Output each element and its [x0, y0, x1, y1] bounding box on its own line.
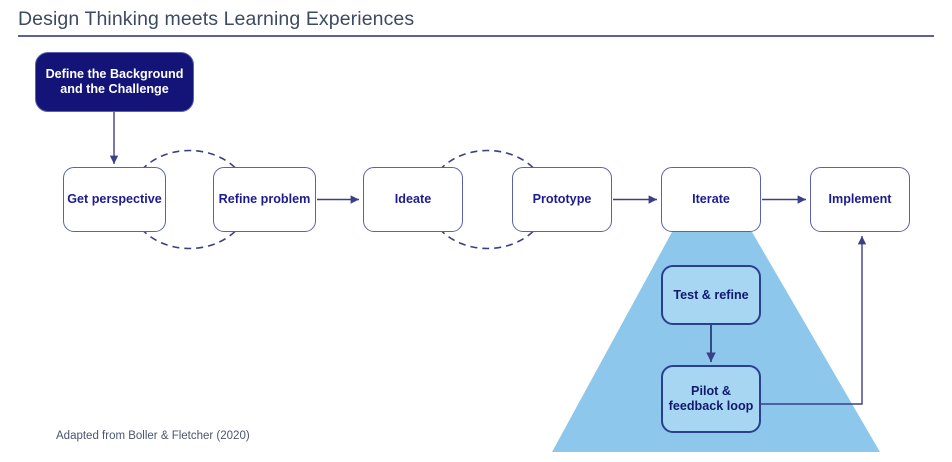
node-label: Implement — [811, 192, 909, 207]
node-test-and-refine[interactable]: Test & refine — [661, 265, 761, 325]
source-attribution: Adapted from Boller & Fletcher (2020) — [56, 430, 250, 442]
node-define-background-challenge[interactable]: Define the Background and the Challenge — [35, 52, 194, 112]
slide-canvas: Design Thinking meets Learning Experienc… — [0, 0, 952, 462]
node-pilot-feedback-loop[interactable]: Pilot & feedback loop — [661, 365, 761, 433]
node-label: Pilot & feedback loop — [663, 384, 759, 414]
node-get-perspective[interactable]: Get perspective — [63, 167, 166, 232]
node-label: Define the Background and the Challenge — [36, 67, 193, 97]
node-label: Prototype — [513, 192, 611, 207]
node-prototype[interactable]: Prototype — [512, 167, 612, 232]
node-label: Refine problem — [214, 192, 315, 207]
node-label: Ideate — [364, 192, 462, 207]
node-label: Iterate — [662, 192, 760, 207]
node-refine-problem[interactable]: Refine problem — [213, 167, 316, 232]
node-label: Test & refine — [663, 288, 759, 303]
node-label: Get perspective — [64, 192, 165, 207]
node-ideate[interactable]: Ideate — [363, 167, 463, 232]
node-iterate[interactable]: Iterate — [661, 167, 761, 232]
node-implement[interactable]: Implement — [810, 167, 910, 232]
